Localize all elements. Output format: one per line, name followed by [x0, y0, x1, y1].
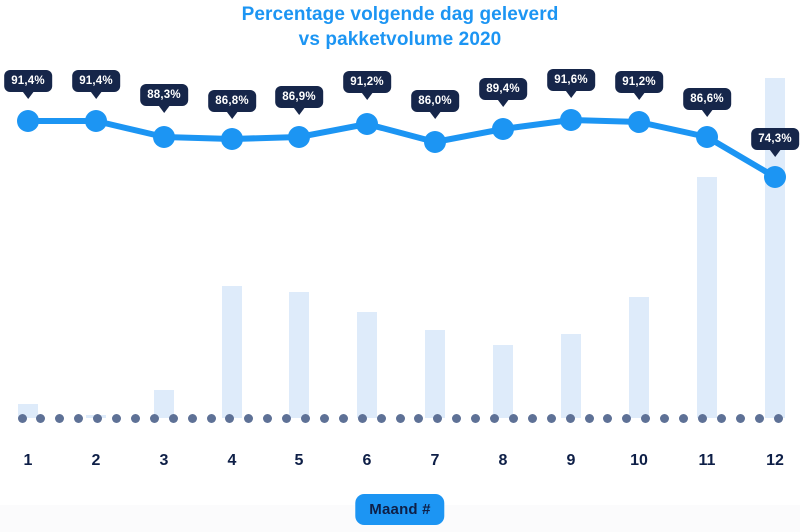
x-axis-tick-2: 2: [92, 452, 101, 470]
data-label-month-11: 86,6%: [683, 88, 731, 110]
data-label-month-8: 89,4%: [479, 78, 527, 100]
x-axis-tick-3: 3: [160, 452, 169, 470]
data-label-month-6: 91,2%: [343, 71, 391, 93]
x-axis-tick-11: 11: [699, 452, 716, 470]
x-axis-tick-6: 6: [363, 452, 372, 470]
line-series-percentage: [0, 0, 800, 445]
line-point-month-10[interactable]: [628, 111, 650, 133]
line-point-month-5[interactable]: [288, 126, 310, 148]
data-label-month-3: 88,3%: [140, 84, 188, 106]
line-point-month-11[interactable]: [696, 126, 718, 148]
line-point-month-4[interactable]: [221, 128, 243, 150]
x-axis-tick-7: 7: [431, 452, 440, 470]
data-label-month-4: 86,8%: [208, 90, 256, 112]
x-axis-tick-12: 12: [766, 452, 784, 470]
line-point-month-12[interactable]: [764, 166, 786, 188]
line-point-month-8[interactable]: [492, 118, 514, 140]
line-point-month-7[interactable]: [424, 131, 446, 153]
x-axis-tick-1: 1: [24, 452, 33, 470]
plot-area: 91,4%91,4%88,3%86,8%86,9%91,2%86,0%89,4%…: [0, 0, 800, 445]
data-label-month-12: 74,3%: [751, 128, 799, 150]
data-label-month-5: 86,9%: [275, 86, 323, 108]
data-label-month-1: 91,4%: [4, 70, 52, 92]
line-point-month-3[interactable]: [153, 126, 175, 148]
data-label-month-10: 91,2%: [615, 71, 663, 93]
x-axis-tick-10: 10: [630, 452, 648, 470]
line-path: [28, 120, 775, 177]
data-label-month-2: 91,4%: [72, 70, 120, 92]
x-axis-tick-8: 8: [499, 452, 508, 470]
data-label-month-7: 86,0%: [411, 90, 459, 112]
data-label-month-9: 91,6%: [547, 69, 595, 91]
x-axis-tick-9: 9: [567, 452, 576, 470]
line-point-month-6[interactable]: [356, 113, 378, 135]
line-point-month-2[interactable]: [85, 110, 107, 132]
line-point-month-9[interactable]: [560, 109, 582, 131]
x-axis-tick-5: 5: [295, 452, 304, 470]
x-axis-title-pill[interactable]: Maand #: [355, 494, 444, 525]
x-axis-tick-4: 4: [228, 452, 237, 470]
line-point-month-1[interactable]: [17, 110, 39, 132]
x-axis: 123456789101112: [0, 452, 800, 482]
line-point-group: [17, 109, 786, 188]
chart-root: Percentage volgende dag geleverd vs pakk…: [0, 0, 800, 532]
